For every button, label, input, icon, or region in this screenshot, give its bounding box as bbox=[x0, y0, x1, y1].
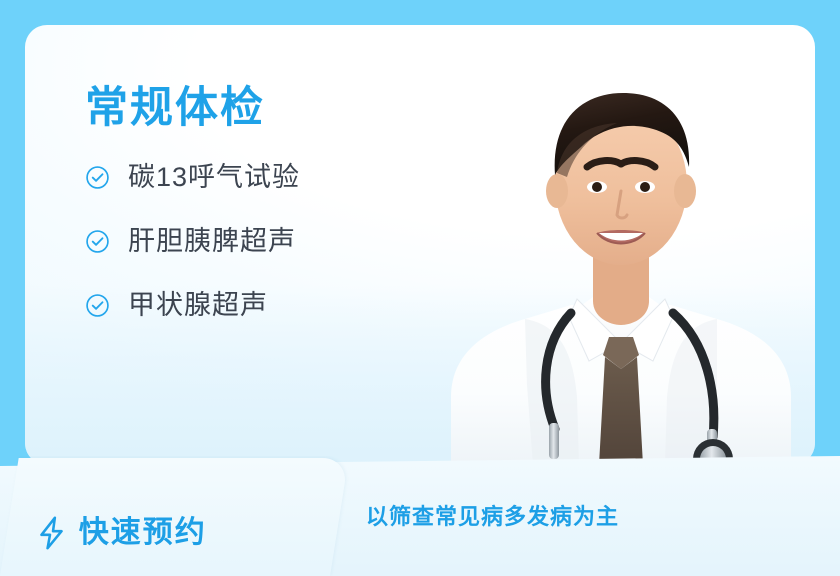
quick-booking-content: 快速预约 bbox=[37, 516, 207, 550]
package-content: 常规体检 碳13呼气试验 肝胆胰脾超声 bbox=[85, 87, 445, 319]
list-item: 碳13呼气试验 bbox=[85, 164, 445, 191]
check-circle-icon bbox=[85, 293, 110, 318]
list-item: 甲状腺超声 bbox=[85, 292, 445, 319]
feature-label: 肝胆胰脾超声 bbox=[128, 228, 296, 255]
feature-list: 碳13呼气试验 肝胆胰脾超声 甲状腺超声 bbox=[85, 164, 445, 319]
promo-banner: 常规体检 碳13呼气试验 肝胆胰脾超声 bbox=[0, 0, 840, 576]
quick-booking-label: 快速预约 bbox=[79, 518, 207, 548]
bottom-bar: 以筛查常见病多发病为主 快速预约 bbox=[0, 456, 840, 576]
page-title: 常规体检 bbox=[85, 87, 445, 130]
lightning-bolt-icon bbox=[37, 516, 67, 550]
package-card: 常规体检 碳13呼气试验 肝胆胰脾超声 bbox=[25, 25, 815, 465]
quick-booking-button[interactable]: 快速预约 bbox=[0, 458, 349, 576]
tagline-text: 以筛查常见病多发病为主 bbox=[366, 506, 619, 528]
feature-label: 碳13呼气试验 bbox=[128, 164, 300, 191]
feature-label: 甲状腺超声 bbox=[128, 292, 268, 319]
check-circle-icon bbox=[85, 229, 110, 254]
doctor-photo bbox=[421, 25, 815, 465]
list-item: 肝胆胰脾超声 bbox=[85, 228, 445, 255]
check-circle-icon bbox=[85, 165, 110, 190]
